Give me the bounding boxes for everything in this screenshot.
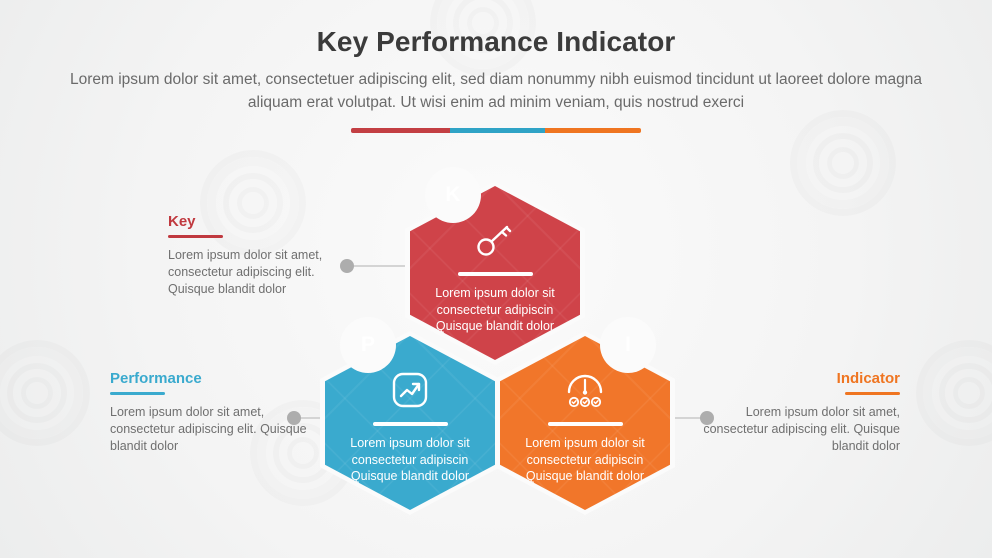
side-body-indicator: Lorem ipsum dolor sit amet, consectetur … — [700, 404, 900, 455]
page-title: Key Performance Indicator — [0, 26, 992, 58]
side-label-performance: Performance Lorem ipsum dolor sit amet, … — [110, 370, 310, 455]
badge-key[interactable]: K — [430, 172, 476, 218]
side-underline-performance — [110, 392, 165, 395]
chart-growth-icon — [390, 370, 430, 415]
side-heading-performance: Performance — [110, 370, 310, 387]
side-heading-indicator: Indicator — [700, 370, 900, 387]
gauge-icon — [562, 370, 608, 415]
badge-performance[interactable]: P — [345, 322, 391, 368]
badge-indicator[interactable]: I — [605, 322, 651, 368]
connector-dot-performance — [287, 411, 301, 425]
spiral-watermark-icon — [916, 340, 992, 446]
connector-dot-indicator — [700, 411, 714, 425]
side-underline-key — [168, 235, 223, 238]
hexagon-rule — [458, 272, 533, 276]
divider-segment-red — [351, 128, 450, 133]
hexagon-body-key: Lorem ipsum dolor sit consectetur adipis… — [420, 285, 570, 335]
side-label-key: Key Lorem ipsum dolor sit amet, consecte… — [168, 213, 358, 298]
hexagon-body-performance: Lorem ipsum dolor sit consectetur adipis… — [335, 435, 485, 485]
key-icon — [473, 220, 517, 265]
hexagon-body-indicator: Lorem ipsum dolor sit consectetur adipis… — [510, 435, 660, 485]
side-heading-key: Key — [168, 213, 358, 230]
spiral-watermark-icon — [790, 110, 896, 216]
side-underline-indicator — [845, 392, 900, 395]
page-subtitle: Lorem ipsum dolor sit amet, consectetuer… — [60, 68, 932, 114]
hexagon-rule — [373, 422, 448, 426]
badge-letter: P — [361, 333, 375, 357]
badge-letter: K — [445, 183, 460, 207]
side-label-indicator: Indicator Lorem ipsum dolor sit amet, co… — [700, 370, 900, 455]
connector-dot-key — [340, 259, 354, 273]
divider-segment-blue — [450, 128, 544, 133]
spiral-watermark-icon — [0, 340, 90, 446]
infographic-canvas: Key Performance Indicator Lorem ipsum do… — [0, 0, 992, 558]
hexagon-rule — [548, 422, 623, 426]
accent-divider — [351, 128, 641, 133]
divider-segment-orange — [545, 128, 641, 133]
side-body-performance: Lorem ipsum dolor sit amet, consectetur … — [110, 404, 310, 455]
side-body-key: Lorem ipsum dolor sit amet, consectetur … — [168, 247, 358, 298]
badge-letter: I — [625, 333, 631, 357]
